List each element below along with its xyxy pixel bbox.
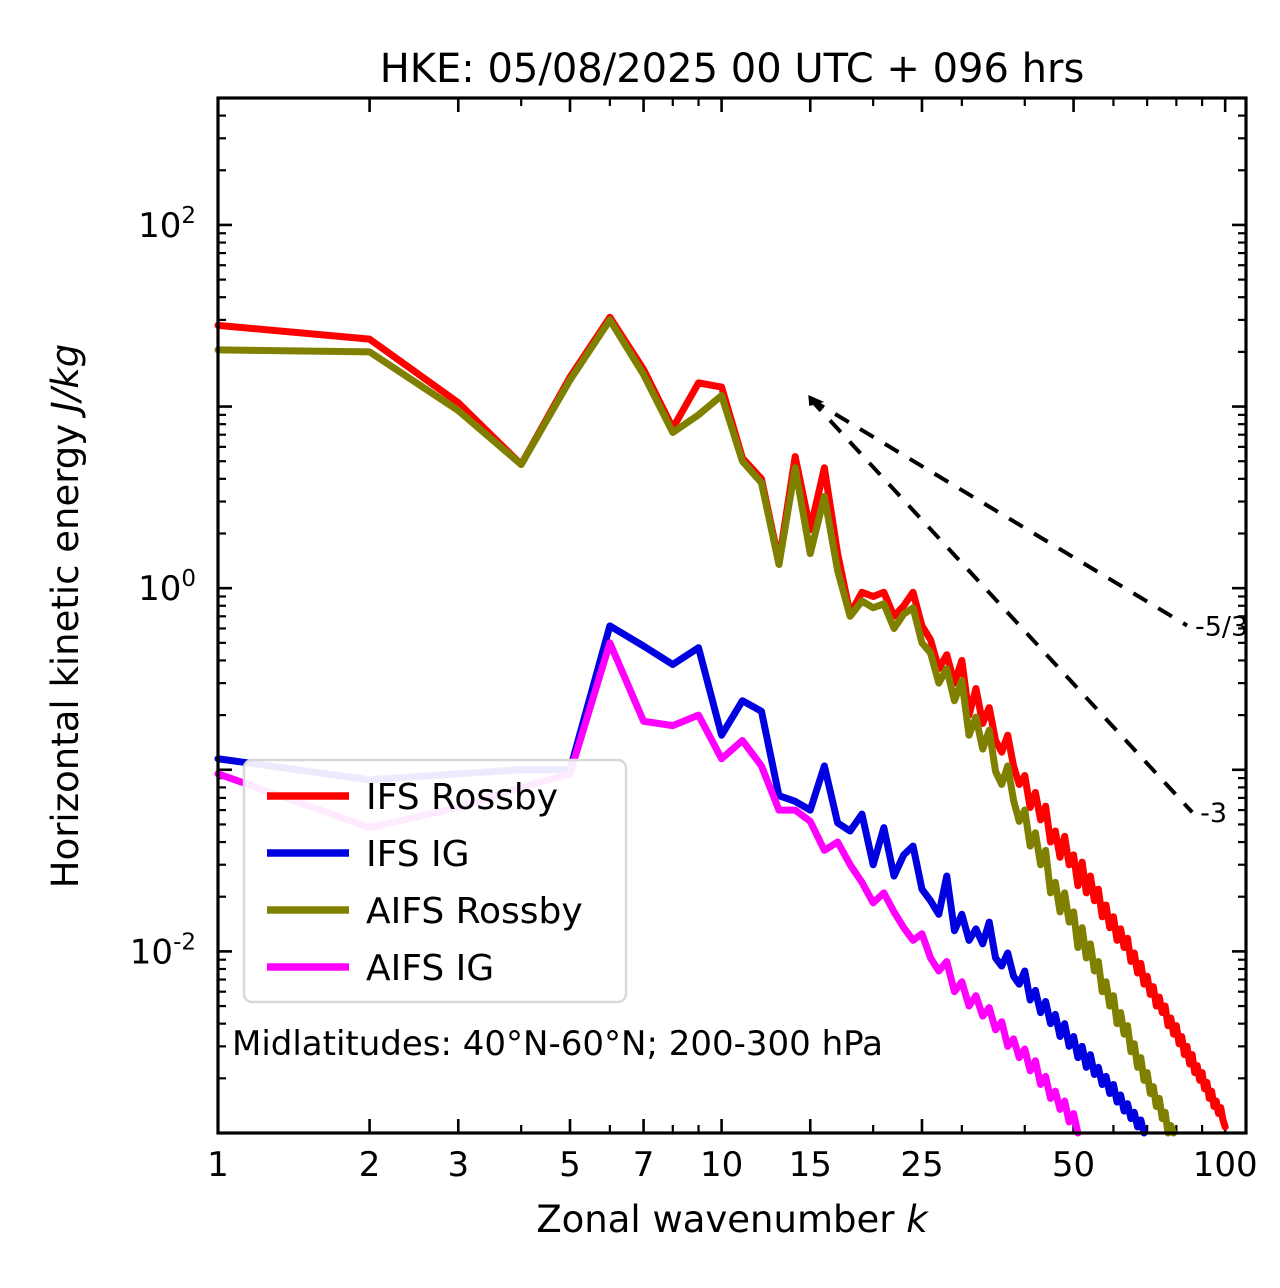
x-axis-tick-label: 2 [359, 1145, 381, 1185]
legend-item-label: AIFS Rossby [366, 891, 583, 932]
x-axis-title-plain: Zonal wavenumber [536, 1198, 895, 1241]
x-axis-tick-label: 1 [207, 1145, 229, 1185]
x-axis-tick-label: 7 [633, 1145, 655, 1185]
x-axis-tick-label: 100 [1193, 1145, 1258, 1185]
x-axis-tick-label: 15 [789, 1145, 832, 1185]
x-axis-tick-label: 5 [559, 1145, 581, 1185]
x-axis-tick-label: 10 [700, 1145, 743, 1185]
x-axis-tick-label: 25 [900, 1145, 943, 1185]
x-axis-tick-label: 50 [1052, 1145, 1095, 1185]
page-title: HKE: 05/08/2025 00 UTC + 096 hrs [380, 46, 1085, 92]
x-axis-title: Zonal wavenumber k [536, 1198, 929, 1241]
x-axis-title-variable: k [906, 1198, 929, 1241]
slope-label-53: -5/3 [1195, 612, 1248, 643]
chart-page: HKE: 05/08/2025 00 UTC + 096 hrs Horizon… [0, 0, 1280, 1288]
legend-item-label: AIFS IG [366, 948, 494, 989]
svg-text:Horizontal kinetic energy J/kg: Horizontal kinetic energy J/kg [44, 344, 87, 888]
chart-legend[interactable]: IFS RossbyIFS IGAIFS RossbyAIFS IG [244, 760, 626, 1002]
slope-label-3: -3 [1200, 798, 1227, 829]
legend-item-label: IFS IG [366, 834, 470, 875]
legend-item-label: IFS Rossby [366, 777, 558, 818]
y-axis-title-units: J/kg [44, 344, 87, 419]
x-axis-tick-label: 3 [447, 1145, 469, 1185]
y-axis-title-plain: Horizontal kinetic energy [44, 412, 87, 888]
region-annotation: Midlatitudes: 40°N-60°N; 200-300 hPa [232, 1024, 883, 1064]
hke-spectrum-chart: HKE: 05/08/2025 00 UTC + 096 hrs Horizon… [0, 0, 1280, 1288]
y-axis-title: Horizontal kinetic energy J/kg [44, 344, 87, 888]
